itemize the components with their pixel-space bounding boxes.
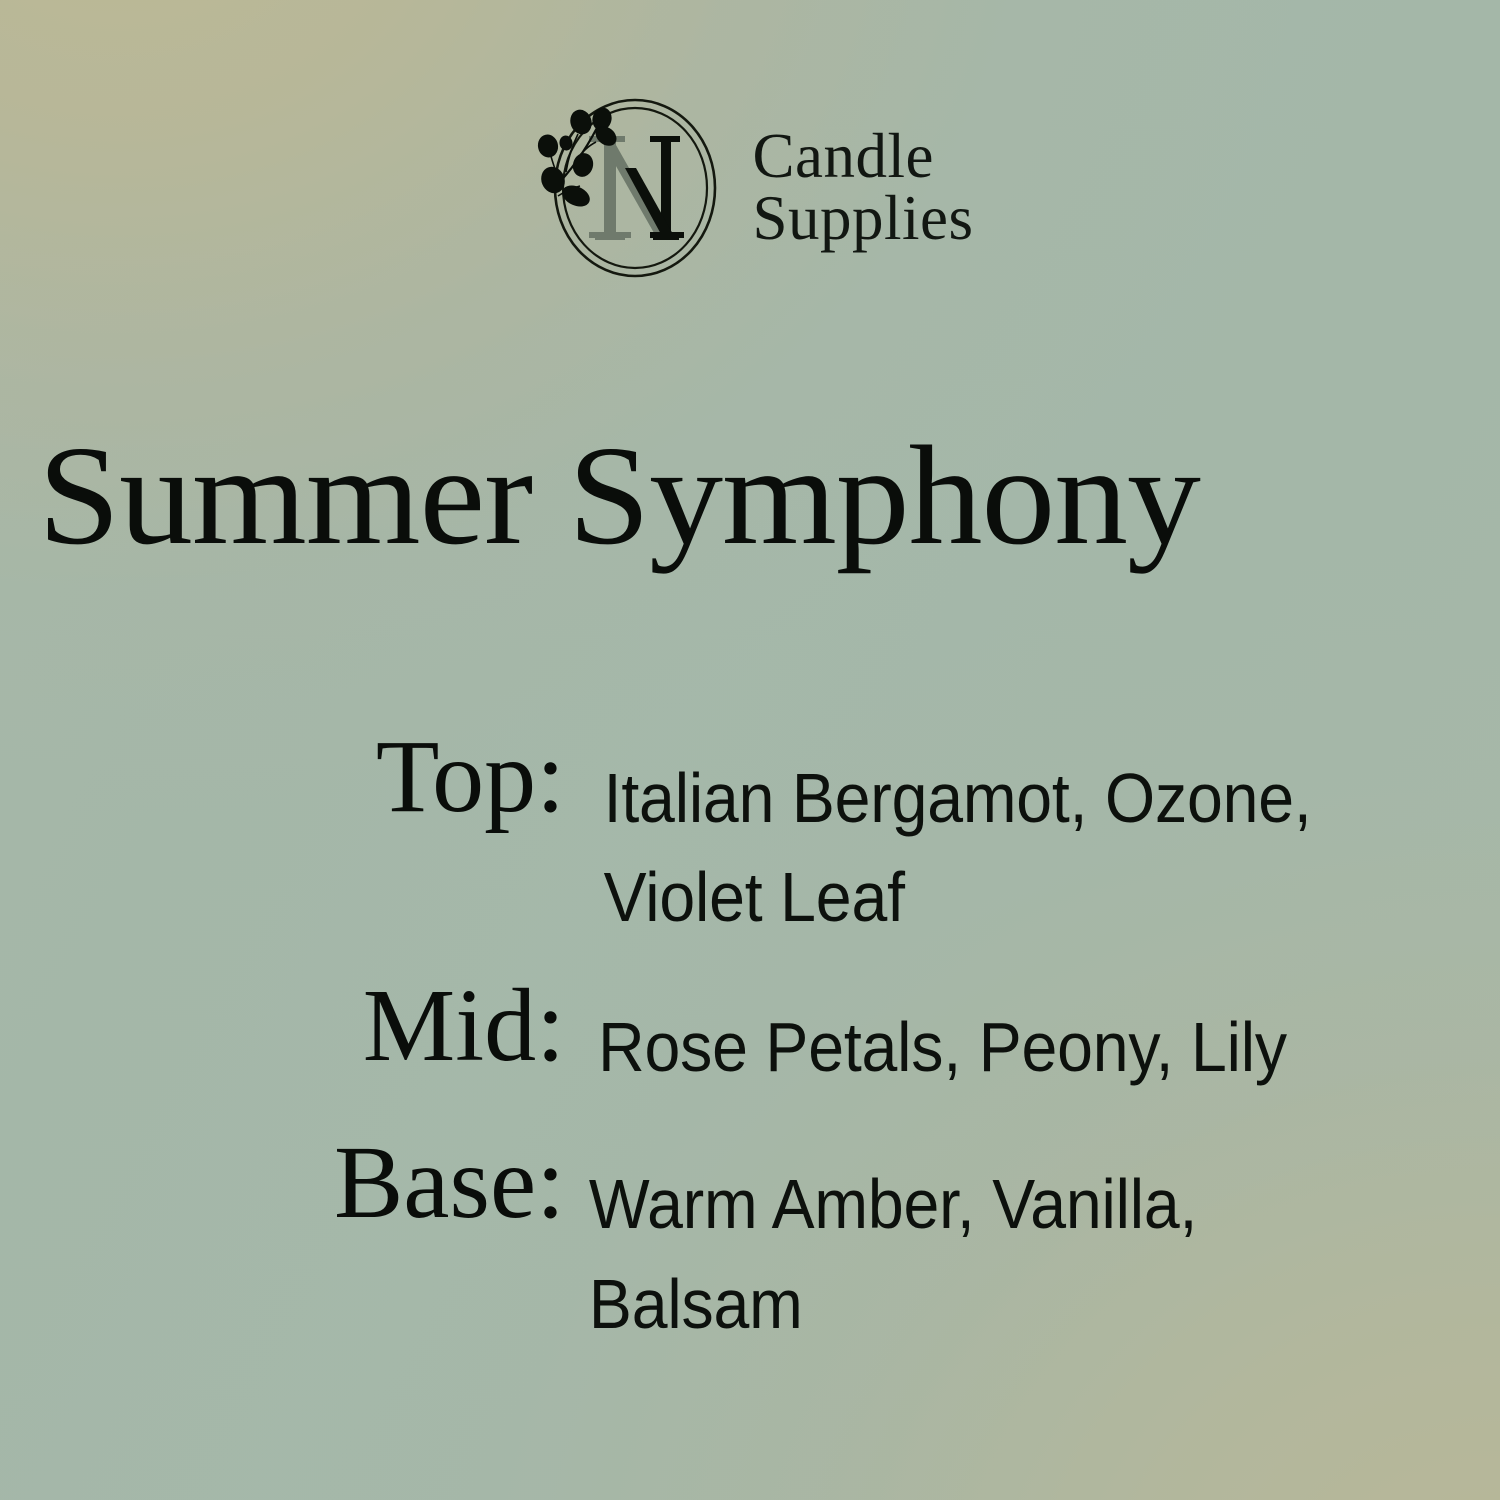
note-label-mid: Mid:: [0, 974, 565, 1078]
note-row-top: Top: Italian Bergamot, Ozone, Violet Lea…: [0, 725, 1500, 948]
product-label-canvas: Candle Supplies Summer Symphony Top: Ita…: [0, 0, 1500, 1500]
logo-mark: [526, 88, 738, 288]
note-value-mid: Rose Petals, Peony, Lily: [565, 974, 1425, 1097]
wordmark-line-candle: Candle: [752, 126, 973, 188]
page-title: Summer Symphony: [38, 424, 1500, 566]
note-row-mid: Mid: Rose Petals, Peony, Lily: [0, 974, 1500, 1097]
note-row-base: Base: Warm Amber, Vanilla, Balsam: [0, 1131, 1500, 1354]
fragrance-notes-list: Top: Italian Bergamot, Ozone, Violet Lea…: [0, 725, 1500, 1388]
note-label-base: Base:: [0, 1131, 565, 1235]
note-label-top: Top:: [0, 725, 565, 829]
brand-logo: Candle Supplies: [0, 88, 1500, 288]
wordmark-line-supplies: Supplies: [752, 188, 973, 250]
note-value-top: Italian Bergamot, Ozone, Violet Leaf: [565, 725, 1425, 948]
brand-wordmark: Candle Supplies: [752, 126, 973, 249]
note-value-base: Warm Amber, Vanilla, Balsam: [565, 1131, 1425, 1354]
monogram-letter-n: [589, 136, 684, 240]
